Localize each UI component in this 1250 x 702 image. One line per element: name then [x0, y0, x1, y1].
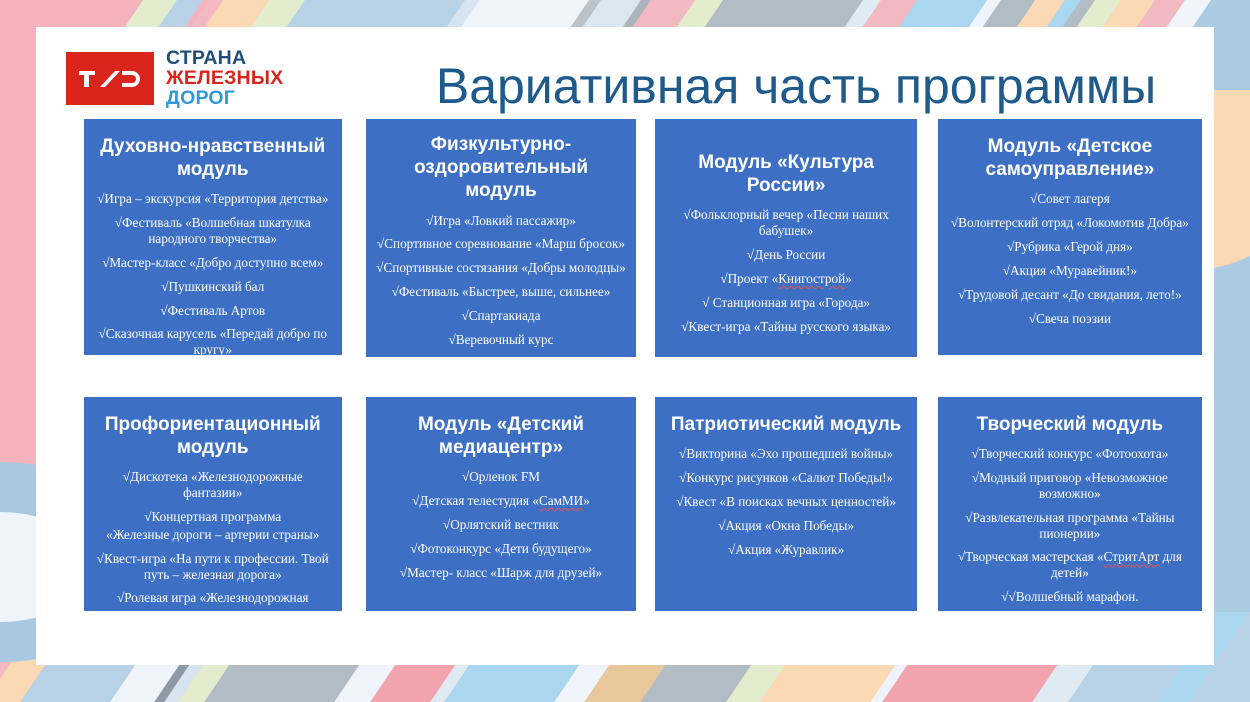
module-card-media-center[interactable]: Модуль «Детский медиацентр» √Орленок FM … [366, 397, 637, 611]
module-card-spiritual[interactable]: Духовно-нравственный модуль √Игра – экск… [84, 119, 342, 355]
module-item: √Квест-игра «Тайны русского языка» [665, 319, 906, 335]
module-item: √День России [665, 247, 906, 263]
module-item: √Детская телестудия «СамМИ» [376, 493, 627, 509]
module-item: √Фестиваль «Волшебная шкатулка народного… [94, 215, 332, 247]
module-card-self-governance[interactable]: Модуль «Детское самоуправление» √Совет л… [938, 119, 1202, 355]
module-item: √Веревочный курс [376, 332, 627, 348]
module-item: √Пушкинский бал [94, 279, 332, 295]
module-item-text: » [583, 493, 590, 508]
module-grid: Духовно-нравственный модуль √Игра – экск… [48, 119, 1202, 611]
module-item-list: √Совет лагеря √Волонтерский отряд «Локом… [946, 191, 1194, 326]
module-item: √Совет лагеря [948, 191, 1192, 207]
module-row-2: Профориентационный модуль √Дискотека «Же… [48, 397, 1202, 611]
logo-line-3: ДОРОГ [166, 89, 283, 109]
module-card-culture[interactable]: Модуль «Культура России» √Фольклорный ве… [655, 119, 916, 357]
module-item: √Фестиваль «Быстрее, выше, сильнее» [376, 284, 627, 300]
module-item: √Ролевая игра «Железнодорожная корпораци… [94, 590, 332, 622]
module-item: √Сказочная карусель «Передай добро по кр… [94, 326, 332, 358]
module-item: √Свеча поэзии [948, 311, 1192, 327]
module-item: √√Волшебный марафон. [948, 589, 1192, 605]
module-card-title: Модуль «Детский медиацентр» [378, 413, 625, 459]
module-item: √Фотоконкурс «Дети будущего» [376, 541, 627, 557]
module-item-text: √Творческая мастерская « [958, 549, 1104, 564]
module-card-title: Модуль «Культура России» [667, 151, 904, 197]
module-item: √Конкурс рисунков «Салют Победы!» [665, 470, 906, 486]
module-item: «Железные дороги – артерии страны» [94, 527, 332, 543]
module-card-title: Патриотический модуль [667, 413, 904, 436]
module-item: √Фольклорный вечер «Песни наших бабушек» [665, 207, 906, 239]
module-item-list: √Творческий конкурс «Фотоохота» √Модный … [946, 446, 1194, 605]
module-item: √ Станционная игра «Города» [665, 295, 906, 311]
module-item: √Викторина «Эхо прошедшей войны» [665, 446, 906, 462]
spellcheck-word: СамМИ [539, 493, 583, 508]
module-card-creative[interactable]: Творческий модуль √Творческий конкурс «Ф… [938, 397, 1202, 611]
module-card-title: Модуль «Детское самоуправление» [950, 135, 1190, 181]
module-item-list: √Фольклорный вечер «Песни наших бабушек»… [663, 207, 908, 334]
module-card-title: Профориентационный модуль [96, 413, 330, 459]
module-card-title: Физкультурно-оздоровительный модуль [378, 133, 625, 203]
module-item: √Проект «Книгострой» [665, 271, 906, 287]
module-item-text: » [845, 271, 852, 286]
logo-wordmark: СТРАНА ЖЕЛЕЗНЫХ ДОРОГ [166, 49, 283, 109]
module-item: √Творческий конкурс «Фотоохота» [948, 446, 1192, 462]
slide-canvas: СТРАНА ЖЕЛЕЗНЫХ ДОРОГ Вариативная часть … [0, 0, 1250, 702]
spellcheck-word: СтритАрт [1104, 549, 1160, 564]
module-item: √Рубрика «Герой дня» [948, 239, 1192, 255]
module-item: √Квест-игра «На пути к профессии. Твой п… [94, 551, 332, 583]
module-item-text: √Детская телестудия « [412, 493, 539, 508]
module-item: √Развлекательная программа «Тайны пионер… [948, 510, 1192, 542]
rzd-logo-icon [66, 52, 154, 105]
module-item-list: √Викторина «Эхо прошедшей войны» √Конкур… [663, 446, 908, 557]
page-title: Вариативная часть программы [366, 57, 1226, 115]
module-item: √Квест «В поисках вечных ценностей» [665, 494, 906, 510]
brand-logo: СТРАНА ЖЕЛЕЗНЫХ ДОРОГ [66, 49, 283, 109]
module-item: √Мастер- класс «Шарж для друзей» [376, 565, 627, 581]
module-card-title: Творческий модуль [950, 413, 1190, 436]
module-item: √Фестиваль Артов [94, 303, 332, 319]
module-item: √Творческая мастерская «СтритАрт для дет… [948, 549, 1192, 581]
module-card-sports[interactable]: Физкультурно-оздоровительный модуль √Игр… [366, 119, 637, 357]
module-card-patriotic[interactable]: Патриотический модуль √Викторина «Эхо пр… [655, 397, 916, 611]
module-item-list: √Орленок FM √Детская телестудия «СамМИ» … [374, 469, 629, 580]
module-item: √Орлятский вестник [376, 517, 627, 533]
module-item: √Спортивные состязания «Добры молодцы» [376, 260, 627, 276]
module-item: √Игра – экскурсия «Территория детства» [94, 191, 332, 207]
module-item: √Акция «Окна Победы» [665, 518, 906, 534]
module-item: √Спортивное соревнование «Марш бросок» [376, 236, 627, 252]
spellcheck-word: Книгострой [778, 271, 845, 286]
module-item: √Дискотека «Железнодорожные фантазии» [94, 469, 332, 501]
module-card-career[interactable]: Профориентационный модуль √Дискотека «Же… [84, 397, 342, 611]
logo-line-1: СТРАНА [166, 49, 283, 69]
module-item: √Волонтерский отряд «Локомотив Добра» [948, 215, 1192, 231]
module-item: √Акция «Журавлик» [665, 542, 906, 558]
module-row-1: Духовно-нравственный модуль √Игра – экск… [48, 119, 1202, 357]
module-item: √Игра «Ловкий пассажир» [376, 213, 627, 229]
module-item-list: √Игра «Ловкий пассажир» √Спортивное соре… [374, 213, 629, 348]
content-panel: СТРАНА ЖЕЛЕЗНЫХ ДОРОГ Вариативная часть … [36, 27, 1214, 665]
module-item: √Мастер-класс «Добро доступно всем» [94, 255, 332, 271]
logo-line-2: ЖЕЛЕЗНЫХ [166, 69, 283, 89]
module-item-list: √Дискотека «Железнодорожные фантазии» √К… [92, 469, 334, 622]
module-item: √Орленок FM [376, 469, 627, 485]
module-card-title: Духовно-нравственный модуль [96, 135, 330, 181]
module-item-list: √Игра – экскурсия «Территория детства» √… [92, 191, 334, 358]
module-item: √Модный приговор «Невозможное возможно» [948, 470, 1192, 502]
module-item-text: √Проект « [720, 271, 778, 286]
module-item: √Концертная программа [94, 509, 332, 525]
module-item: √Акция «Муравейник!» [948, 263, 1192, 279]
module-item: √Спартакиада [376, 308, 627, 324]
module-item: √Трудовой десант «До свидания, лето!» [948, 287, 1192, 303]
